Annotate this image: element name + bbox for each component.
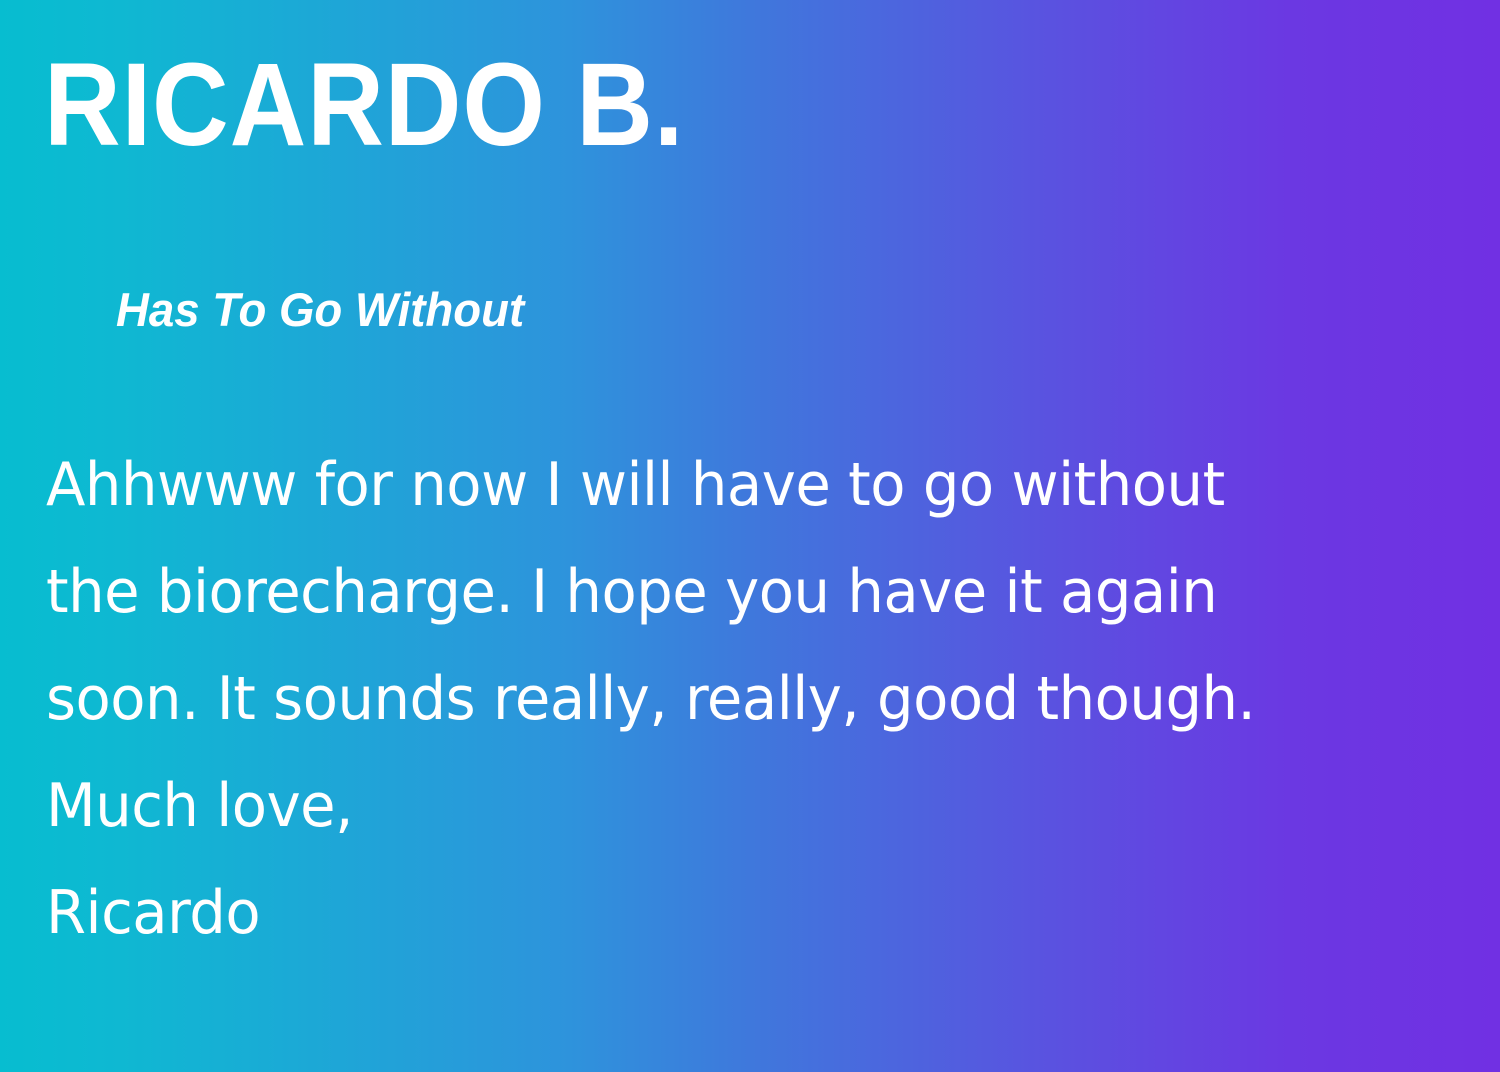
testimonial-card: RICARDO B. Has To Go Without Ahhwww for … <box>0 0 1500 1072</box>
review-body-line: Ahhwww for now I will have to go without <box>46 432 1438 539</box>
review-body: Ahhwww for now I will have to go without… <box>46 432 1438 967</box>
review-body-line: soon. It sounds really, really, good tho… <box>46 646 1438 753</box>
review-body-line: the biorecharge. I hope you have it agai… <box>46 539 1438 646</box>
review-title: Has To Go Without <box>116 286 524 333</box>
author-name: RICARDO B. <box>44 46 684 164</box>
review-body-line: Ricardo <box>46 860 1438 967</box>
testimonial-card-content: RICARDO B. Has To Go Without Ahhwww for … <box>0 0 1500 1072</box>
review-body-line: Much love, <box>46 753 1438 860</box>
